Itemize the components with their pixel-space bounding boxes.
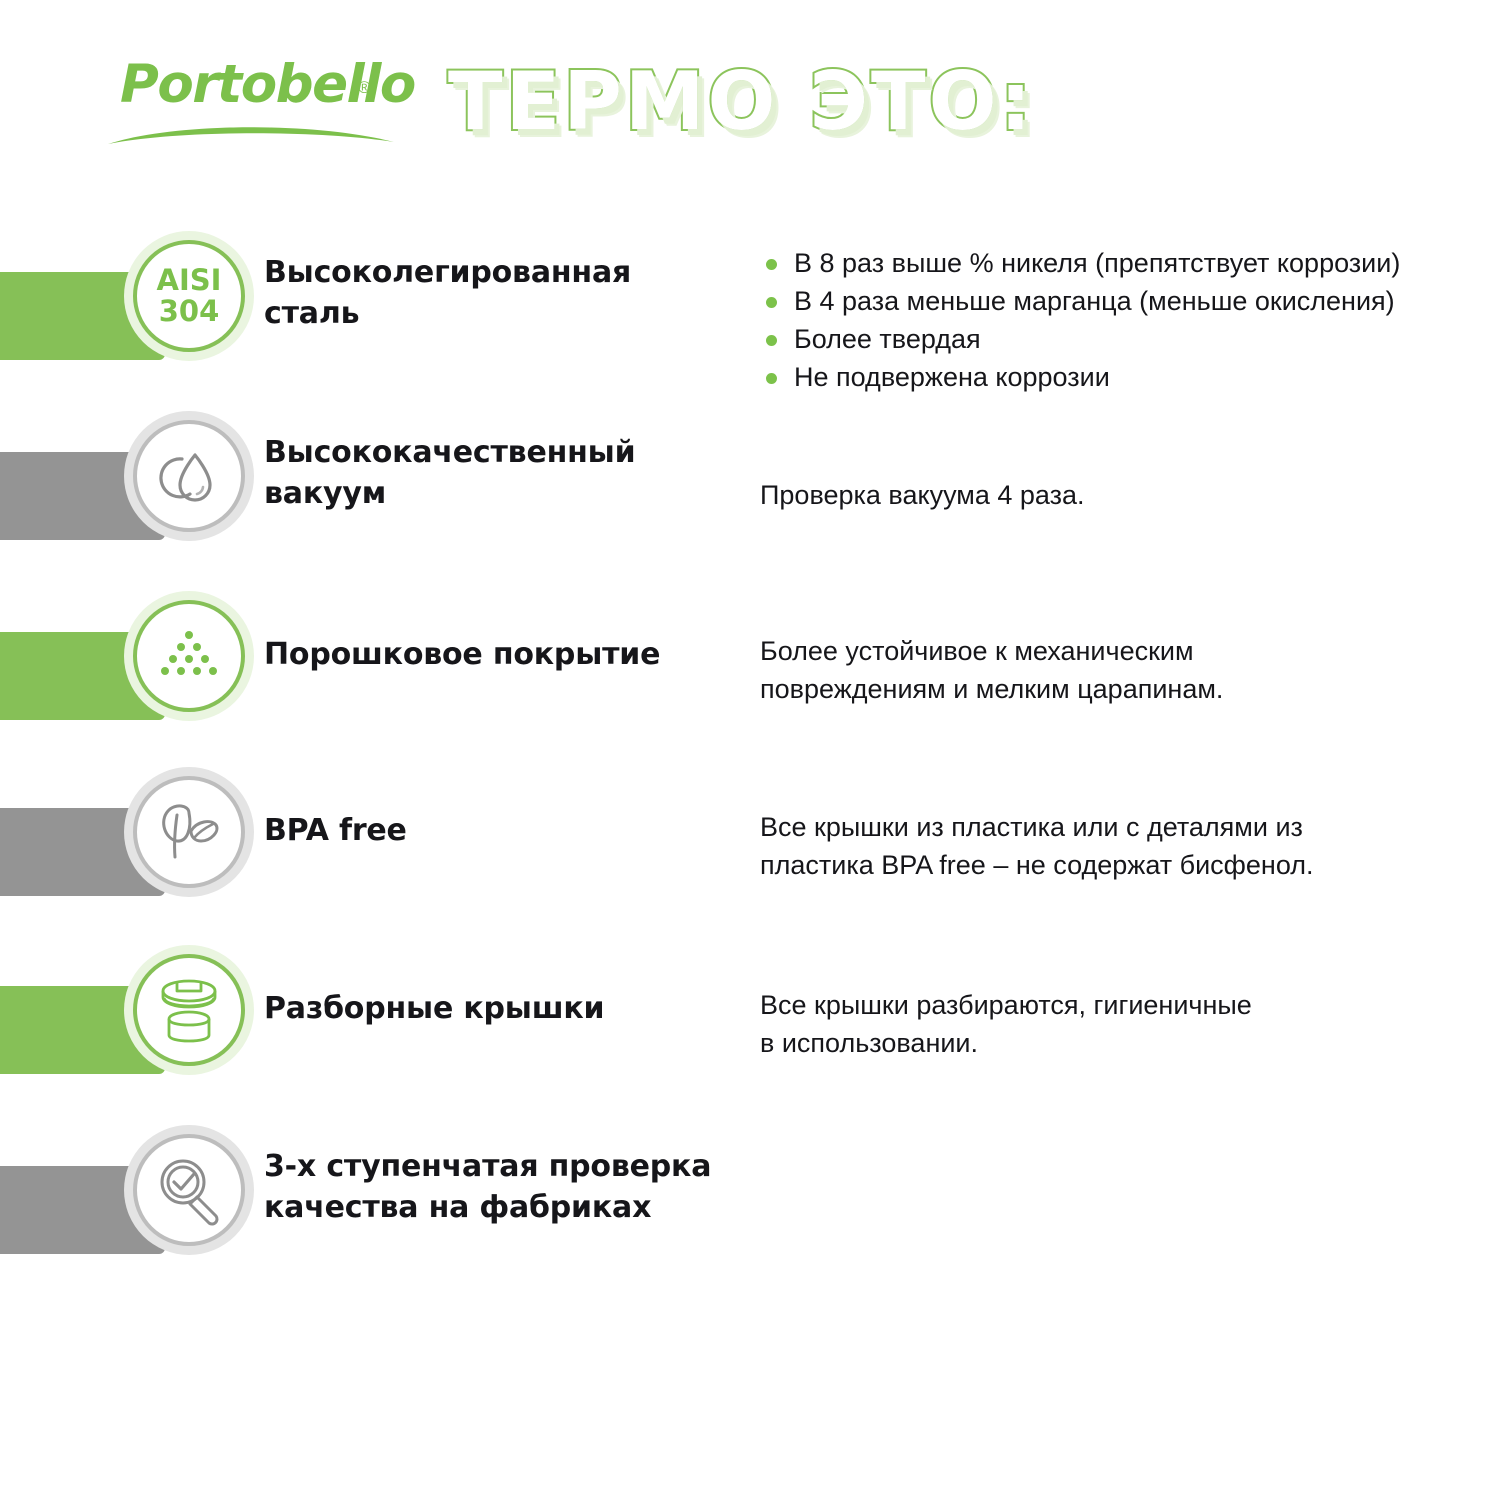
feature-title-line1: Порошковое покрытие: [264, 634, 734, 675]
feature-title: Высококачественный вакуум: [264, 432, 734, 514]
feature-title-line1: BPA free: [264, 810, 734, 851]
feature-title: Порошковое покрытие: [264, 634, 734, 675]
badge-inner: [137, 958, 241, 1062]
feature-description-line1: Более устойчивое к механическим: [760, 632, 1460, 670]
feature-badge: [133, 776, 245, 888]
feature-description: Все крышки разбираются, гигиеничные в ис…: [760, 986, 1460, 1062]
feature-description-line2: в использовании.: [760, 1024, 1460, 1062]
aisi-grade: 304: [157, 296, 222, 327]
feature-description: Более устойчивое к механическим поврежде…: [760, 632, 1460, 708]
feature-row-quality-check: 3-х ступенчатая проверка качества на фаб…: [0, 1130, 1500, 1290]
detachable-lid-icon: [151, 975, 227, 1045]
list-item: Не подвержена коррозии: [760, 358, 1480, 396]
feature-row-powder-coating: Порошковое покрытие Более устойчивое к м…: [0, 596, 1500, 756]
feature-badge: [133, 420, 245, 532]
feature-title-line1: Высоколегированная: [264, 252, 734, 293]
badge-inner: [137, 1138, 241, 1242]
feature-badge: [133, 600, 245, 712]
feature-description-line2: пластика BPA free – не содержат бисфенол…: [760, 846, 1460, 884]
feature-bullet-list: В 8 раз выше % никеля (препятствует корр…: [760, 244, 1480, 396]
feature-title-line2: качества на фабриках: [264, 1187, 784, 1228]
feature-description-line2: повреждениям и мелким царапинам.: [760, 670, 1460, 708]
feature-row-high-quality-vacuum: Высококачественный вакуум Проверка вакуу…: [0, 416, 1500, 576]
water-drop-icon: [154, 441, 224, 511]
feature-title-line1: 3-х ступенчатая проверка: [264, 1146, 784, 1187]
aisi-label: AISI: [157, 265, 222, 296]
aisi-304-badge-icon: AISI 304: [137, 244, 241, 348]
list-item: В 4 раза меньше марганца (меньше окислен…: [760, 282, 1480, 320]
badge-inner: [137, 604, 241, 708]
feature-description-line1: Все крышки из пластика или с деталями из: [760, 808, 1460, 846]
feature-badge: [133, 954, 245, 1066]
feature-description-line1: Проверка вакуума 4 раза.: [760, 476, 1460, 514]
feature-badge: [133, 1134, 245, 1246]
feature-description: Все крышки из пластика или с деталями из…: [760, 808, 1460, 884]
feature-title-line1: Разборные крышки: [264, 988, 734, 1029]
feature-title-line2: вакуум: [264, 473, 734, 514]
feature-title: Разборные крышки: [264, 988, 734, 1029]
feature-list: AISI 304 Высоколегированная сталь В 8 ра…: [0, 0, 1500, 1500]
feature-row-high-alloy-steel: AISI 304 Высоколегированная сталь В 8 ра…: [0, 236, 1500, 396]
leaves-icon: [153, 799, 225, 865]
feature-row-detachable-lids: Разборные крышки Все крышки разбираются,…: [0, 950, 1500, 1110]
feature-title-line1: Высококачественный: [264, 432, 734, 473]
feature-title-line2: сталь: [264, 293, 734, 334]
badge-inner: [137, 780, 241, 884]
badge-inner: [137, 424, 241, 528]
feature-row-bpa-free: BPA free Все крышки из пластика или с де…: [0, 772, 1500, 932]
feature-title: BPA free: [264, 810, 734, 851]
feature-badge: AISI 304: [133, 240, 245, 352]
powder-dots-icon: [153, 625, 225, 687]
feature-description-line1: Все крышки разбираются, гигиеничные: [760, 986, 1460, 1024]
feature-title: 3-х ступенчатая проверка качества на фаб…: [264, 1146, 784, 1228]
list-item: В 8 раз выше % никеля (препятствует корр…: [760, 244, 1480, 282]
aisi-badge-text: AISI 304: [157, 265, 222, 327]
feature-title: Высоколегированная сталь: [264, 252, 734, 334]
list-item: Более твердая: [760, 320, 1480, 358]
feature-description: Проверка вакуума 4 раза.: [760, 476, 1460, 514]
magnifier-check-icon: [152, 1153, 226, 1227]
